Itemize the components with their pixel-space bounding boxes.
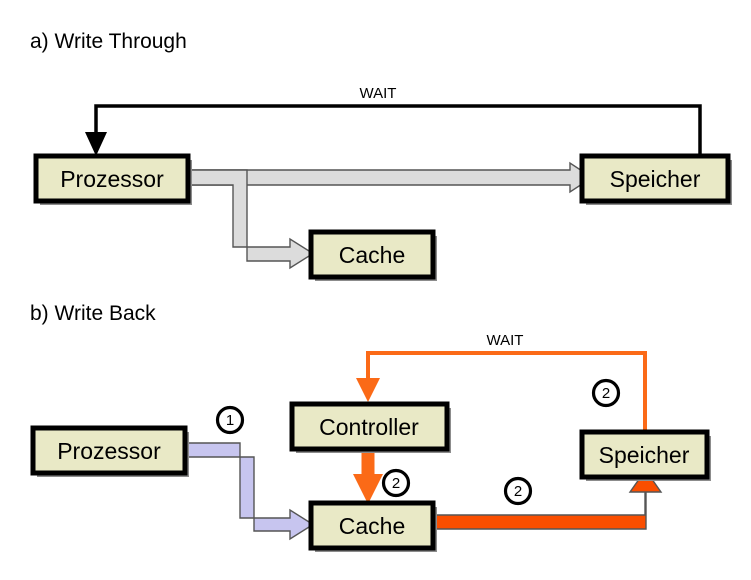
arrowhead xyxy=(356,378,380,402)
edge-b-controller-cache xyxy=(353,449,383,504)
step-marker-2-wait: 2 xyxy=(594,381,619,406)
node-b-prozessor-label: Prozessor xyxy=(57,438,161,464)
edge-b-prozessor-cache xyxy=(185,443,313,539)
diagram-canvas: a) Write Through WAIT Prozessor Cache Sp… xyxy=(0,0,751,580)
section-b-title: b) Write Back xyxy=(30,302,156,325)
node-a-cache: Cache xyxy=(311,232,437,281)
edge-a-wait-label: WAIT xyxy=(360,85,397,102)
arrowhead xyxy=(85,132,107,156)
step-marker-2-controller-label: 2 xyxy=(392,475,400,492)
node-b-cache-label: Cache xyxy=(339,513,405,539)
node-b-controller-label: Controller xyxy=(319,414,419,440)
section-a-title: a) Write Through xyxy=(30,30,187,53)
edge-a-wait: WAIT xyxy=(85,85,700,156)
node-b-speicher: Speicher xyxy=(582,432,711,481)
cache-write-policy-diagram: a) Write Through WAIT Prozessor Cache Sp… xyxy=(0,0,751,580)
node-b-prozessor: Prozessor xyxy=(33,428,189,477)
step-marker-2-cache-speicher: 2 xyxy=(506,479,531,504)
step-marker-2-cache-speicher-label: 2 xyxy=(514,483,522,500)
edge-a-prozessor-speicher xyxy=(188,163,592,192)
node-a-speicher-label: Speicher xyxy=(610,166,701,192)
edge-b-wait-label: WAIT xyxy=(487,332,524,349)
node-a-speicher: Speicher xyxy=(582,156,732,205)
node-a-prozessor-label: Prozessor xyxy=(60,166,164,192)
step-marker-1-label: 1 xyxy=(226,412,234,429)
step-marker-1: 1 xyxy=(218,408,243,433)
node-b-cache: Cache xyxy=(311,503,437,552)
node-b-controller: Controller xyxy=(292,404,451,453)
step-marker-2-controller: 2 xyxy=(384,471,409,496)
node-a-cache-label: Cache xyxy=(339,242,405,268)
node-a-prozessor: Prozessor xyxy=(36,156,192,205)
step-marker-2-wait-label: 2 xyxy=(602,385,610,402)
node-b-speicher-label: Speicher xyxy=(599,442,690,468)
